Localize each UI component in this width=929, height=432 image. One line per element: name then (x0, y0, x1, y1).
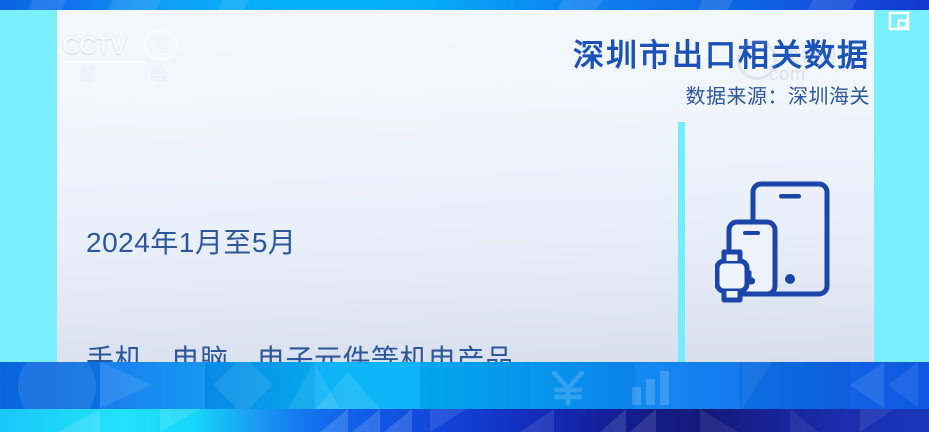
picture-in-picture-icon[interactable] (888, 11, 910, 31)
page-title: 深圳市出口相关数据 (430, 30, 870, 75)
bottom-decorative-band (0, 362, 929, 432)
right-accent-strip (874, 10, 929, 362)
data-source: 数据来源：深圳海关 (430, 80, 870, 109)
left-accent-strip (0, 10, 57, 362)
text-line-period: 2024年1月至5月 (86, 223, 547, 262)
top-decorative-band (0, 0, 929, 10)
vertical-divider (678, 122, 685, 362)
broadcast-graphic-screen: CCTV 2 财 经 深圳市出口相关数据 数据来源：深圳海关 央视网 com 2… (0, 0, 929, 432)
devices-tablet-phone-watch-icon (715, 178, 835, 308)
band-lower-row (0, 409, 929, 432)
band-upper-row (0, 362, 929, 409)
